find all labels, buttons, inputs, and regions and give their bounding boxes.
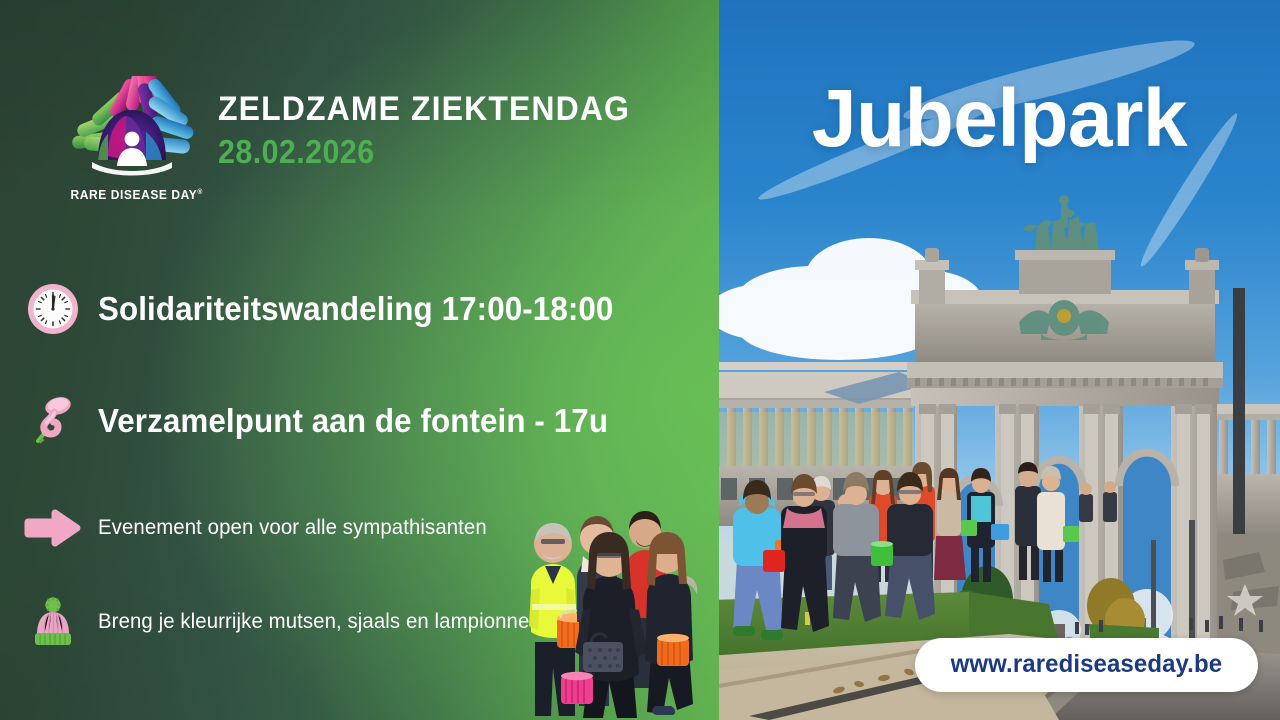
pushpin-icon (22, 390, 84, 452)
info-item-walk: Solidariteitswandeling 17:00-18:00 (22, 276, 712, 342)
beanie-hat-icon (22, 594, 84, 650)
event-title: ZELDZAME ZIEKTENDAG (218, 92, 630, 128)
rare-disease-day-logo: RARE DISEASE DAY® (68, 76, 196, 202)
rare-disease-day-hand-logo-icon (68, 76, 196, 186)
logo-registered-mark: ® (197, 189, 203, 196)
left-green-panel: RARE DISEASE DAY® ZELDZAME ZIEKTENDAG 28… (0, 0, 719, 720)
right-photo-panel: Jubelpark www.rarediseaseday.be (719, 0, 1280, 720)
info-item-meeting-point: Verzamelpunt aan de fontein - 17u (22, 388, 712, 454)
clock-icon (22, 278, 84, 340)
poster-header: RARE DISEASE DAY® ZELDZAME ZIEKTENDAG 28… (68, 76, 656, 202)
info-item-open-event-label: Evenement open voor alle sympathisanten (98, 516, 487, 540)
title-block: ZELDZAME ZIEKTENDAG 28.02.2026 (218, 76, 656, 169)
rare-disease-day-event-poster: RARE DISEASE DAY® ZELDZAME ZIEKTENDAG 28… (0, 0, 1280, 720)
location-title: Jubelpark (725, 78, 1275, 160)
arrow-right-icon (22, 500, 84, 556)
info-item-walk-label: Solidariteitswandeling 17:00-18:00 (98, 290, 613, 328)
walkers-with-lanterns-cutout (505, 492, 719, 720)
info-item-meeting-point-label: Verzamelpunt aan de fontein - 17u (98, 402, 608, 440)
logo-wordmark: RARE DISEASE DAY® (71, 188, 194, 202)
logo-wordmark-text: RARE DISEASE DAY (71, 188, 198, 202)
website-url-badge[interactable]: www.rarediseaseday.be (915, 638, 1258, 692)
event-date: 28.02.2026 (218, 135, 621, 170)
website-url-text: www.rarediseaseday.be (951, 650, 1223, 679)
